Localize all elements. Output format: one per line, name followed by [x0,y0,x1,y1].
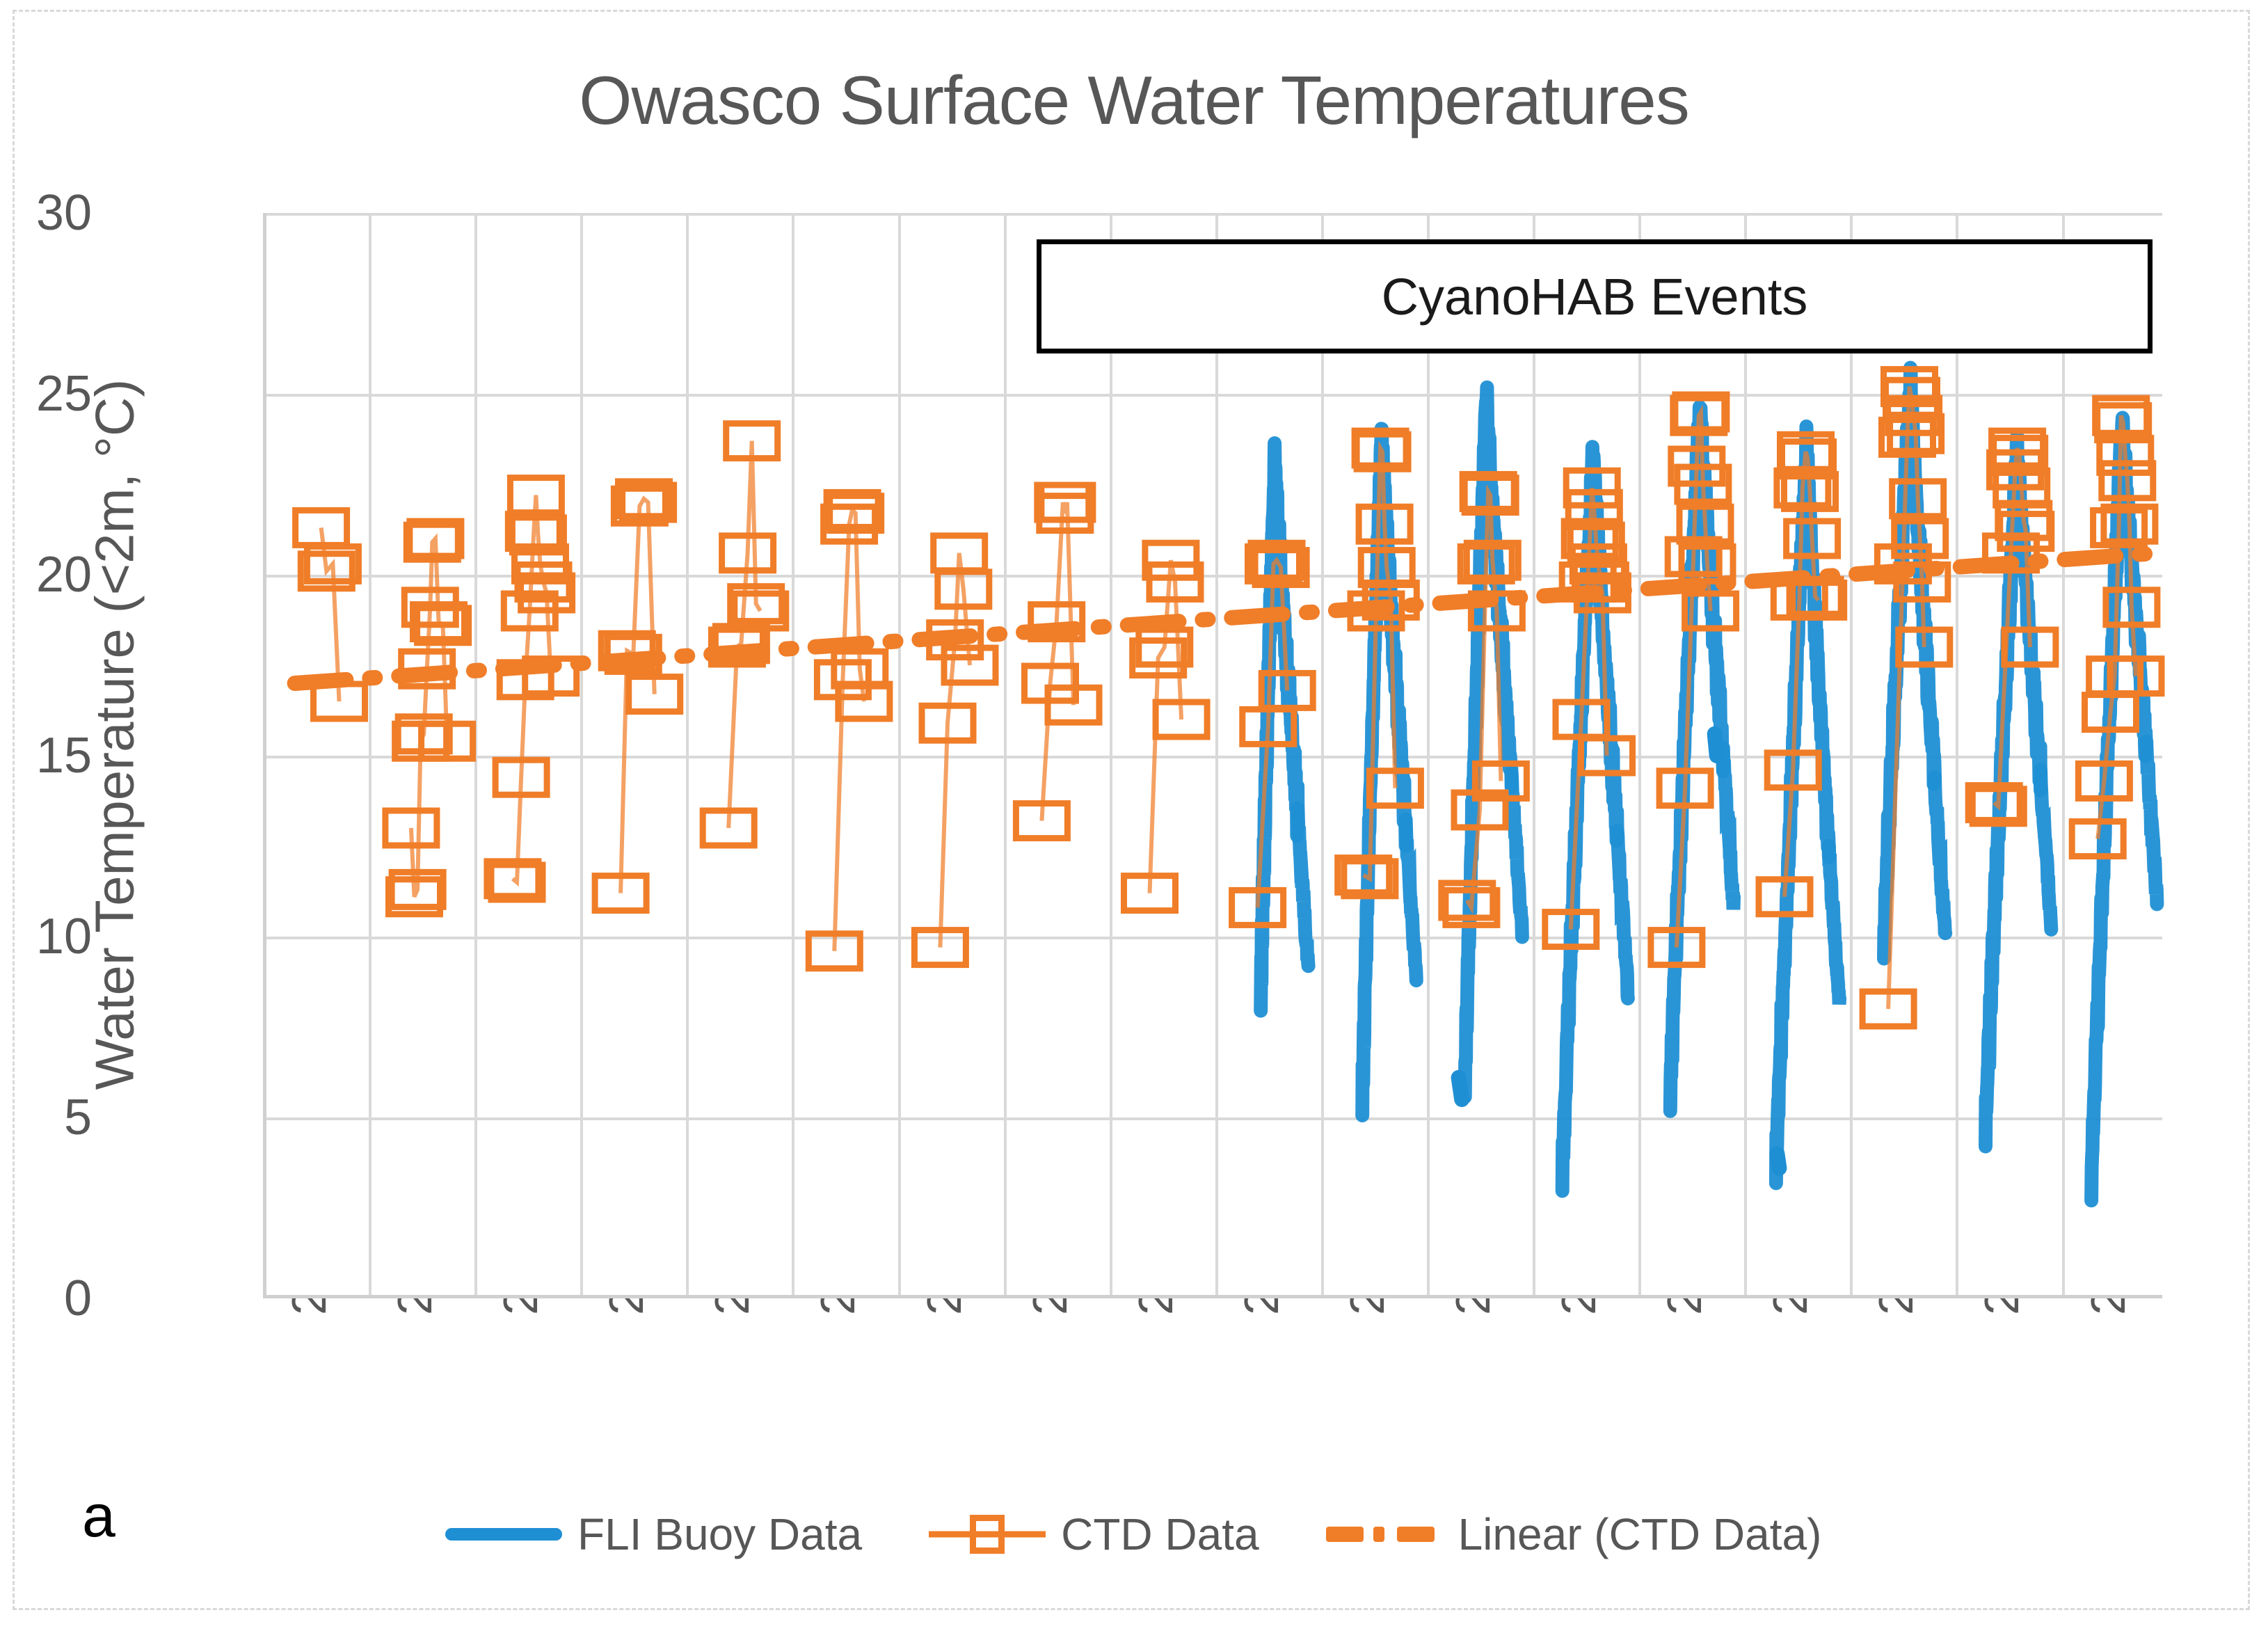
y-axis-tick: 25 [0,365,92,422]
y-axis-tick: 0 [0,1270,92,1327]
chart-legend: FLI Buoy Data CTD Data Linear (CTD Data) [445,1496,1892,1573]
y-axis-tick: 30 [0,184,92,241]
ctd-marker-swatch-icon [929,1515,1046,1554]
figure-panel: Owasco Surface Water Temperatures Water … [0,0,2268,1631]
legend-label-ctd: CTD Data [1061,1509,1259,1560]
trendline-swatch-icon [1326,1527,1443,1542]
legend-label-buoy: FLI Buoy Data [577,1509,862,1560]
legend-item-ctd: CTD Data [929,1509,1259,1560]
cyanohab-events-box: CyanoHAB Events [1037,239,2153,353]
y-axis-title: Water Temperature (<2m, °C) [83,227,147,1243]
legend-label-trend: Linear (CTD Data) [1458,1509,1822,1560]
y-axis-tick: 10 [0,908,92,965]
plot-axis-lines [263,213,2162,1298]
legend-item-buoy: FLI Buoy Data [445,1509,862,1560]
buoy-line-swatch-icon [445,1528,562,1541]
plot-area [263,213,2162,1298]
y-axis-tick: 15 [0,727,92,784]
y-axis-tick: 20 [0,546,92,603]
legend-item-trend: Linear (CTD Data) [1326,1509,1822,1560]
panel-label: a [82,1482,115,1551]
cyanohab-events-label: CyanoHAB Events [1382,267,1808,326]
chart-title: Owasco Surface Water Temperatures [0,61,2268,140]
y-axis-tick: 5 [0,1089,92,1146]
